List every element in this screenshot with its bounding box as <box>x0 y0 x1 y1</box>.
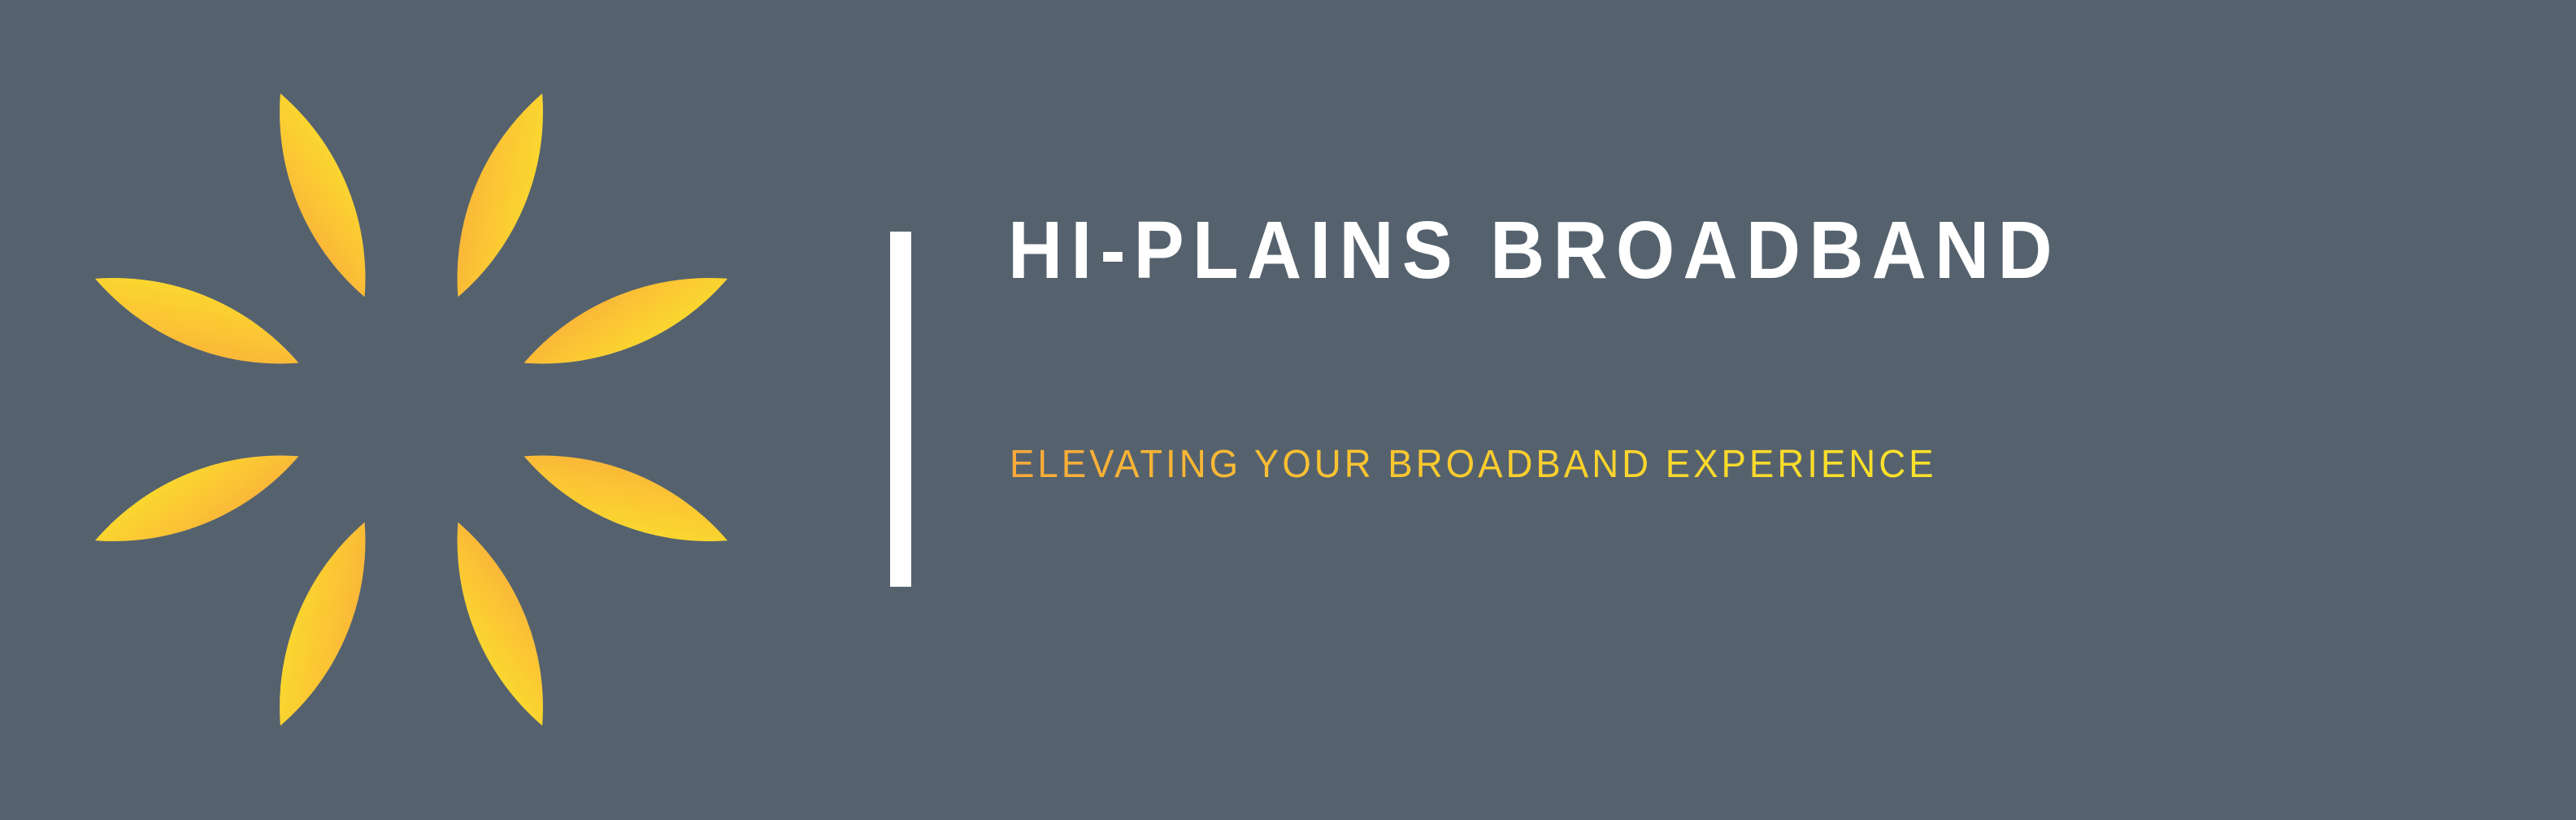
petal-1 <box>434 84 567 307</box>
petal-2 <box>514 254 737 387</box>
petal-4 <box>434 512 567 735</box>
vertical-divider <box>890 232 911 587</box>
flower-petal-logo-icon <box>0 0 823 820</box>
petal-5 <box>256 512 389 735</box>
company-name: HI-PLAINS BROADBAND <box>1008 210 2061 291</box>
brand-banner: HI-PLAINS BROADBAND ELEVATING YOUR BROAD… <box>0 0 2576 820</box>
petal-8 <box>256 84 389 307</box>
wordmark: HI-PLAINS BROADBAND ELEVATING YOUR BROAD… <box>1008 210 2520 616</box>
petal-6 <box>85 432 309 565</box>
petal-7 <box>85 254 309 387</box>
logo-mark[interactable] <box>0 0 823 820</box>
tagline: ELEVATING YOUR BROADBAND EXPERIENCE <box>1010 445 1937 484</box>
petal-3 <box>514 432 737 565</box>
